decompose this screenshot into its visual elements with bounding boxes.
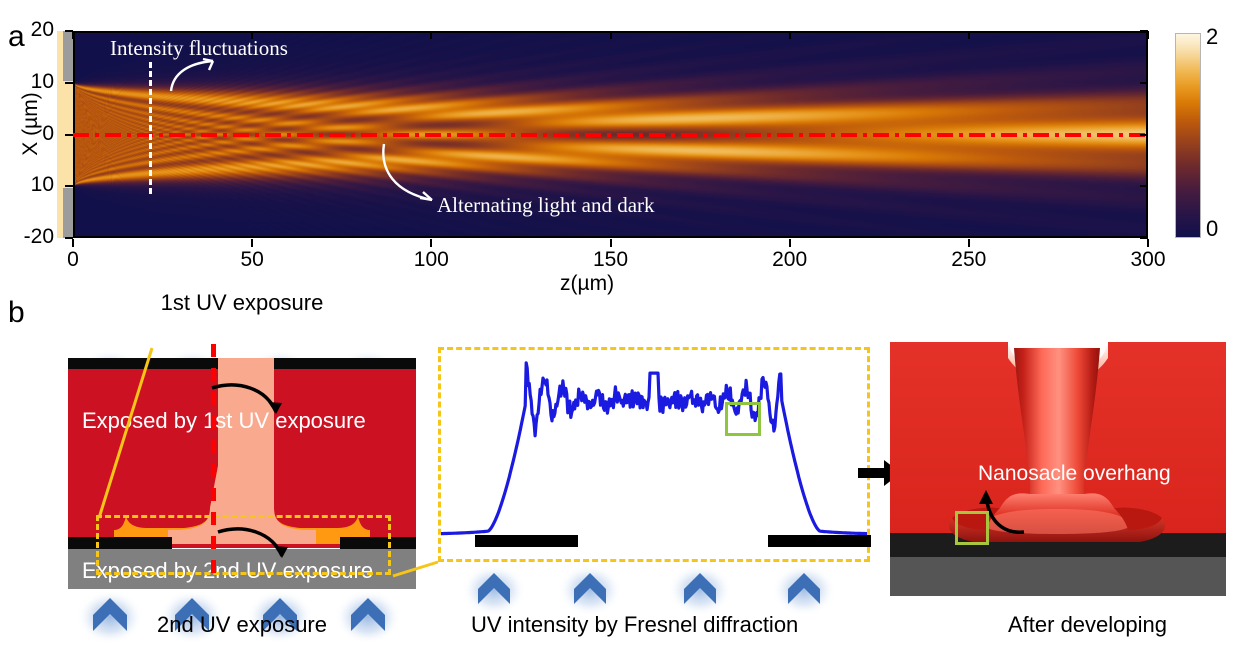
highlight-box-right <box>955 511 989 545</box>
y-tick-label: -20 <box>8 225 54 249</box>
pointer-arrow-to-beam <box>208 382 288 428</box>
mask-strip-bottom <box>63 188 73 238</box>
scalebar-right <box>768 535 871 547</box>
plot-center-dashed-line <box>211 344 216 573</box>
y-tick <box>65 134 73 136</box>
x-tick <box>1147 239 1149 247</box>
x-tick-top <box>72 31 74 39</box>
x-tick <box>251 239 253 247</box>
x-tick <box>72 239 74 247</box>
y-tick <box>65 30 73 32</box>
uv-exposure-top-title: 1st UV exposure <box>68 290 416 316</box>
y-tick <box>65 185 73 187</box>
x-tick-label: 250 <box>934 248 1004 272</box>
colorbar <box>1175 33 1201 238</box>
uv-exposure-bottom-title: 2nd UV exposure <box>68 612 416 638</box>
y-tick <box>65 237 73 239</box>
x-tick <box>610 239 612 247</box>
colorbar-min-label: 0 <box>1206 216 1218 242</box>
x-tick-top <box>1147 31 1149 39</box>
x-tick-label: 50 <box>217 248 287 272</box>
x-tick-label: 200 <box>755 248 825 272</box>
chrome-mask-top-left <box>68 358 218 369</box>
panel-a: a Intensity fluctuations Alternating lig… <box>0 0 1248 288</box>
y-axis-title: X (µm) <box>19 69 43 179</box>
middle-panel-caption: UV intensity by Fresnel diffraction <box>471 612 798 638</box>
right-panel-caption: After developing <box>1008 612 1167 638</box>
intensity-curve-svg <box>441 350 867 559</box>
annotation-arrow-1 <box>165 55 235 95</box>
x-tick-top <box>968 31 970 39</box>
y-tick-right <box>1140 185 1148 187</box>
panel-b-letter: b <box>8 298 25 328</box>
x-tick-top <box>610 31 612 39</box>
scalebar-left <box>475 535 578 547</box>
y-tick-right <box>1140 30 1148 32</box>
x-tick <box>789 239 791 247</box>
annotation-alternating-light-dark: Alternating light and dark <box>437 193 655 218</box>
y-tick-right <box>1140 134 1148 136</box>
x-tick-label: 150 <box>576 248 646 272</box>
x-tick-label: 100 <box>396 248 466 272</box>
fresnel-intensity-plot <box>441 350 867 559</box>
highlight-box-middle <box>725 402 761 436</box>
y-tick-label: 20 <box>8 18 54 42</box>
colorbar-max-label: 2 <box>1206 24 1218 50</box>
guide-dashed-line <box>149 62 152 194</box>
x-tick <box>430 239 432 247</box>
x-tick-label: 0 <box>38 248 108 272</box>
x-tick <box>968 239 970 247</box>
x-tick-top <box>789 31 791 39</box>
callout-box-source <box>96 515 391 575</box>
x-tick-label: 300 <box>1113 248 1183 272</box>
y-tick-right <box>1140 82 1148 84</box>
annotation-arrow-2 <box>378 140 448 208</box>
y-tick-right <box>1140 237 1148 239</box>
x-tick-top <box>430 31 432 39</box>
chrome-mask-top-right <box>274 358 416 369</box>
x-tick-top <box>251 31 253 39</box>
y-tick <box>65 82 73 84</box>
optical-axis-line <box>73 133 1148 137</box>
